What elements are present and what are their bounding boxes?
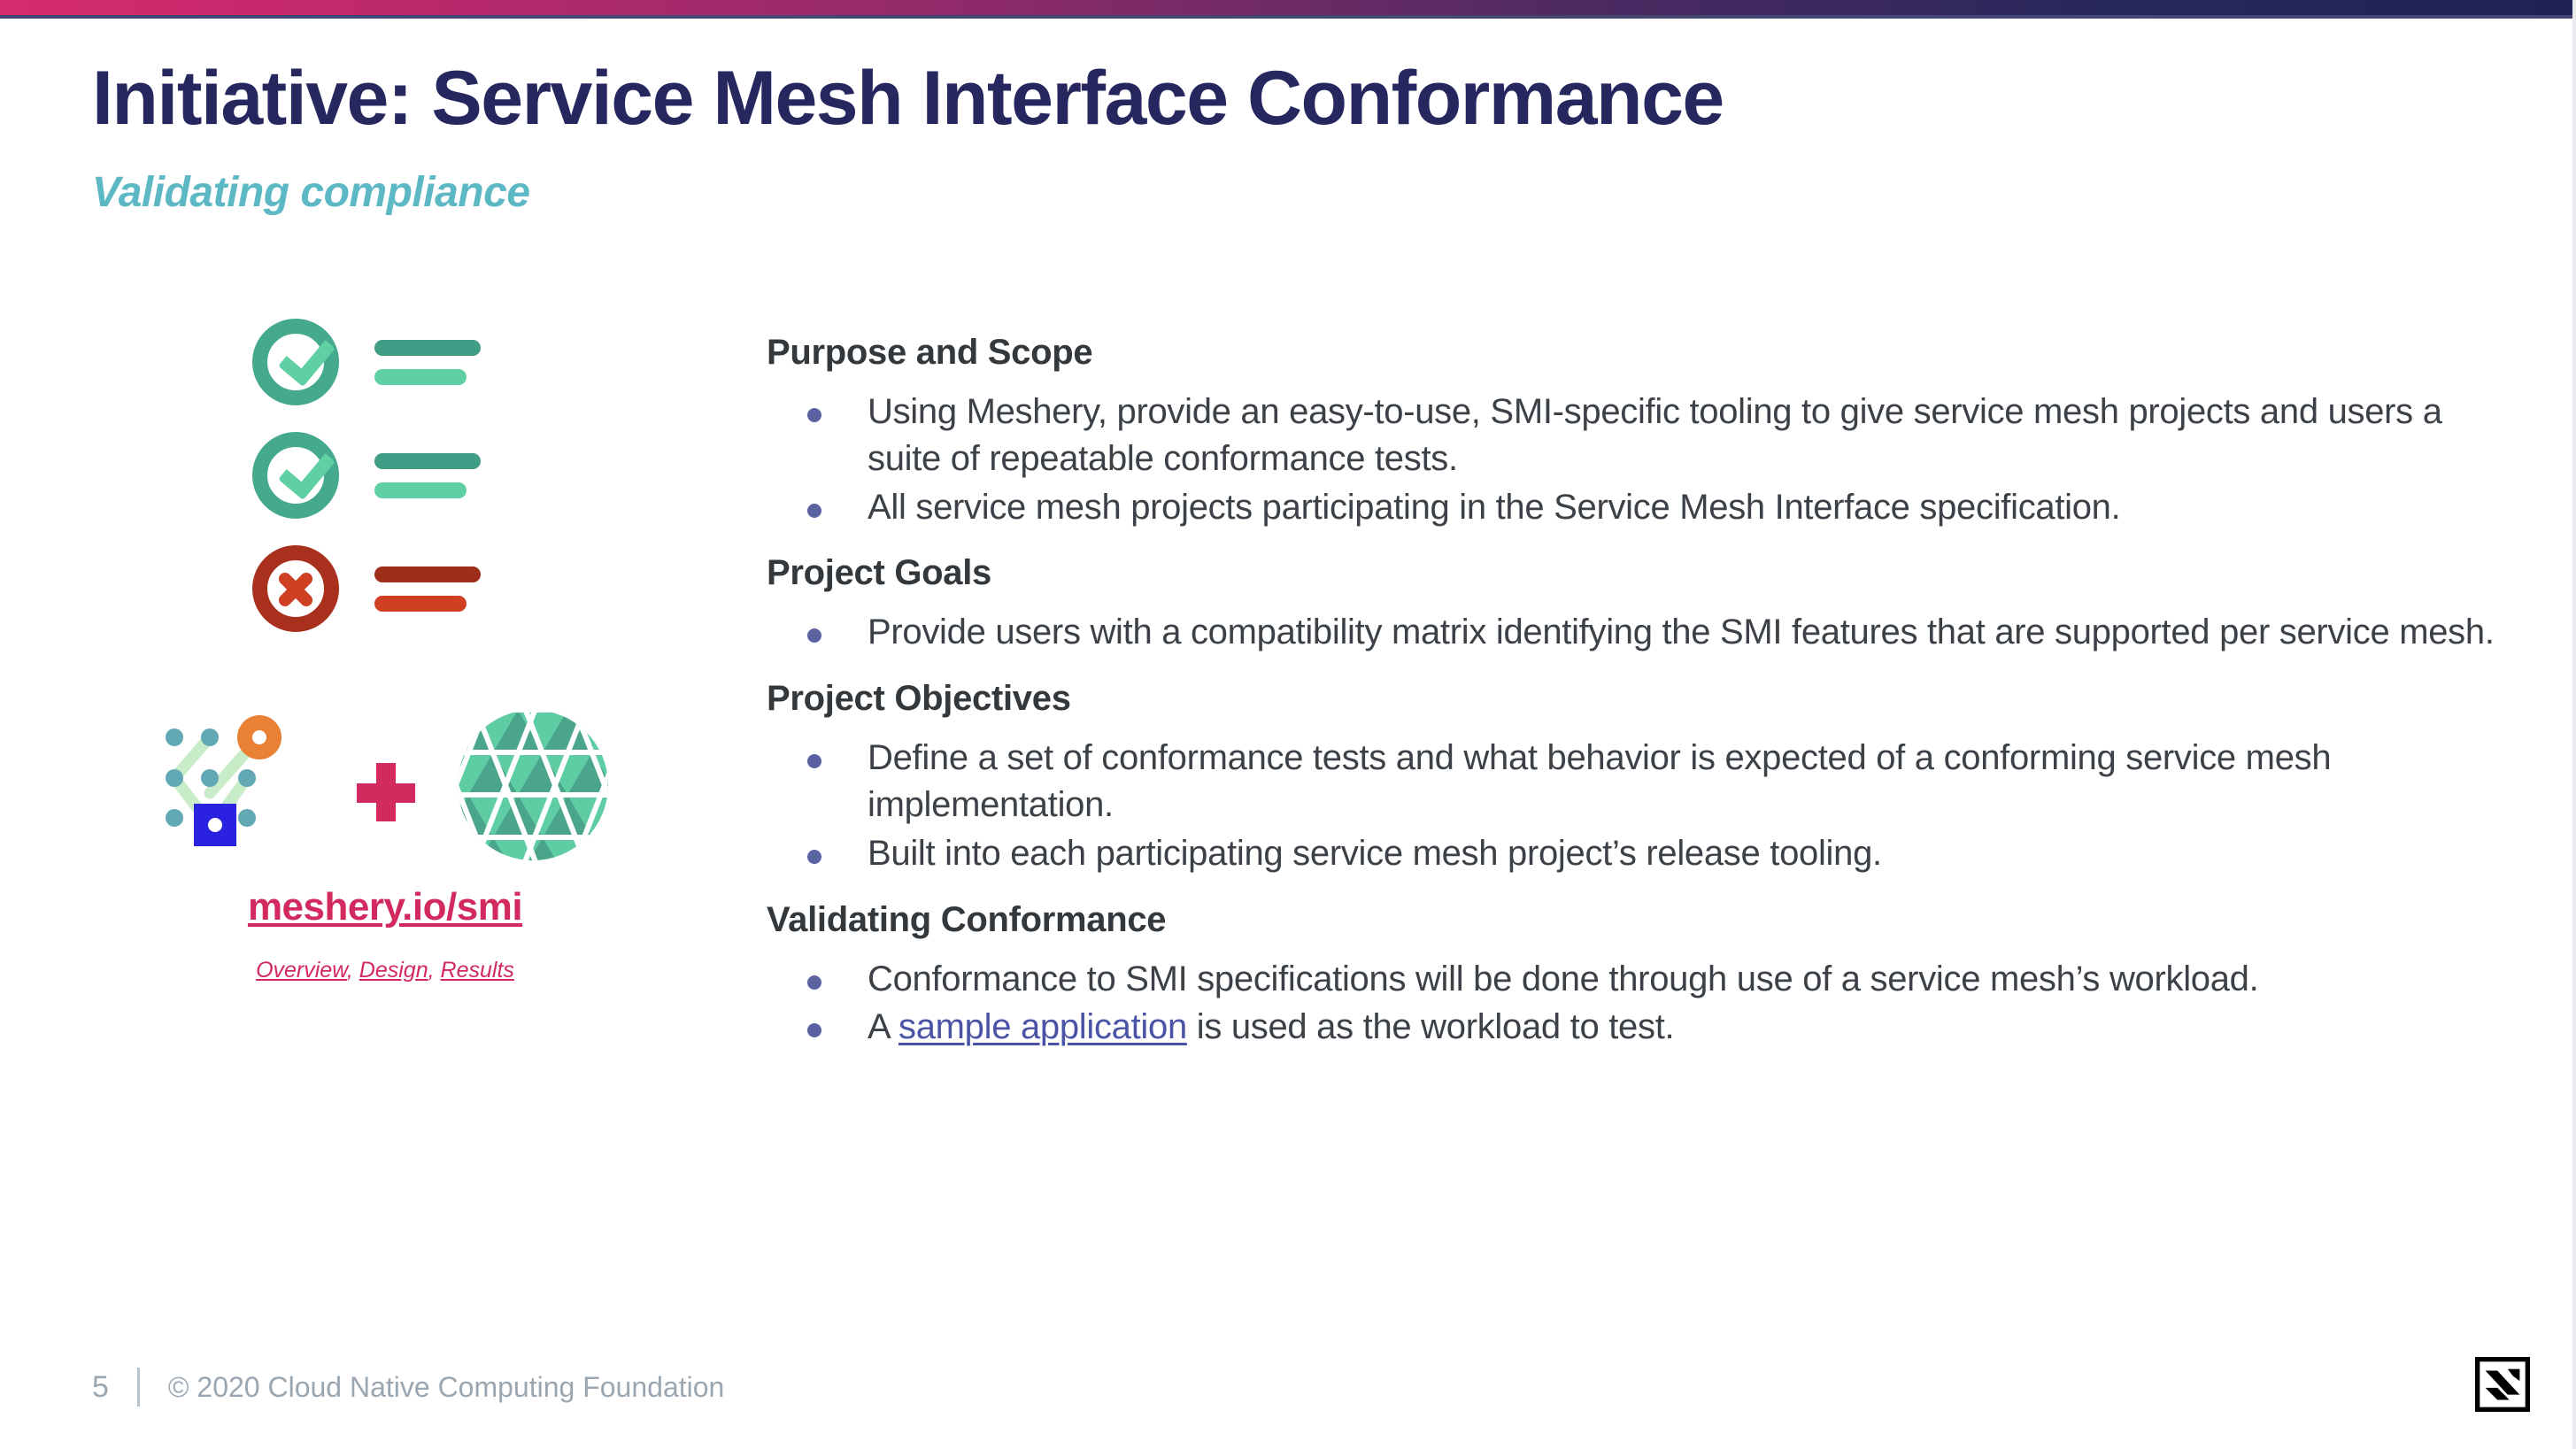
section-purpose-and-scope: Purpose and Scope Using Meshery, provide… [767,333,2502,530]
section-project-goals: Project Goals Provide users with a compa… [767,553,2502,656]
checklist-row-pass-1 [252,319,481,405]
list-item: Conformance to SMI specifications will b… [767,956,2502,1003]
section-bullet-list: Using Meshery, provide an easy-to-use, S… [767,389,2502,530]
checklist-lines [374,340,481,385]
page-subtitle: Validating compliance [92,168,530,217]
sub-link-design[interactable]: Design [359,958,428,983]
list-item: Define a set of conformance tests and wh… [767,735,2502,829]
list-item: All service mesh projects participating … [767,484,2502,531]
checklist-row-fail [252,545,481,632]
sub-links: Overview, Design, Results [0,958,770,983]
page-title: Initiative: Service Mesh Interface Confo… [92,55,1724,143]
footer-divider [137,1368,140,1407]
check-mark-icon [278,328,335,387]
list-item: Using Meshery, provide an easy-to-use, S… [767,389,2502,482]
footer: 5 © 2020 Cloud Native Computing Foundati… [92,1368,724,1407]
list-item: Provide users with a compatibility matri… [767,609,2502,656]
checklist-line-secondary [374,482,467,498]
meshery-smi-link-label: meshery.io/smi [248,885,522,929]
list-item-text-after: is used as the workload to test. [1187,1007,1674,1046]
list-item-text-before: A [868,1007,899,1046]
section-validating-conformance: Validating Conformance Conformance to SM… [767,900,2502,1052]
check-circle-icon [252,432,339,519]
top-accent-bar [0,0,2576,15]
sub-link-separator-2: , [428,958,441,983]
section-project-objectives: Project Objectives Define a set of confo… [767,679,2502,876]
sub-link-separator-1: , [347,958,359,983]
checklist-line-secondary [374,596,467,612]
list-item: A sample application is used as the work… [767,1004,2502,1051]
checklist-line-secondary [374,369,467,385]
section-bullet-list: Define a set of conformance tests and wh… [767,735,2502,876]
checklist-lines [374,566,481,612]
page-number: 5 [92,1370,109,1405]
section-heading: Purpose and Scope [767,333,2502,373]
content-body: Purpose and Scope Using Meshery, provide… [767,333,2502,1052]
sample-application-link[interactable]: sample application [899,1007,1187,1046]
checklist-line-primary [374,453,481,469]
list-item: Built into each participating service me… [767,830,2502,877]
check-circle-icon [252,319,339,405]
x-circle-icon [252,545,339,632]
checklist-lines [374,453,481,498]
logo-combination [146,698,624,875]
x-mark-icon [274,567,317,610]
meshery-square-logo-icon [2475,1357,2530,1412]
meshery-mesh-icon [456,708,610,862]
conformance-checklist-graphic [252,319,518,602]
section-heading: Project Goals [767,553,2502,593]
smi-logo-icon [155,708,305,859]
sub-link-overview[interactable]: Overview [256,958,347,983]
left-illustration-panel: meshery.io/smi Overview, Design, Results [0,319,770,875]
section-bullet-list: Provide users with a compatibility matri… [767,609,2502,656]
section-heading: Validating Conformance [767,900,2502,940]
sub-link-results[interactable]: Results [441,958,514,983]
section-bullet-list: Conformance to SMI specifications will b… [767,956,2502,1052]
section-heading: Project Objectives [767,679,2502,719]
top-accent-bar-shadow [0,15,2576,19]
plus-icon [357,763,415,821]
checklist-line-primary [374,566,481,582]
checklist-row-pass-2 [252,432,481,519]
slide: Initiative: Service Mesh Interface Confo… [0,0,2576,1449]
check-mark-icon [278,441,335,500]
meshery-smi-link[interactable]: meshery.io/smi [0,885,770,929]
copyright-text: © 2020 Cloud Native Computing Foundation [168,1371,724,1404]
checklist-line-primary [374,340,481,356]
